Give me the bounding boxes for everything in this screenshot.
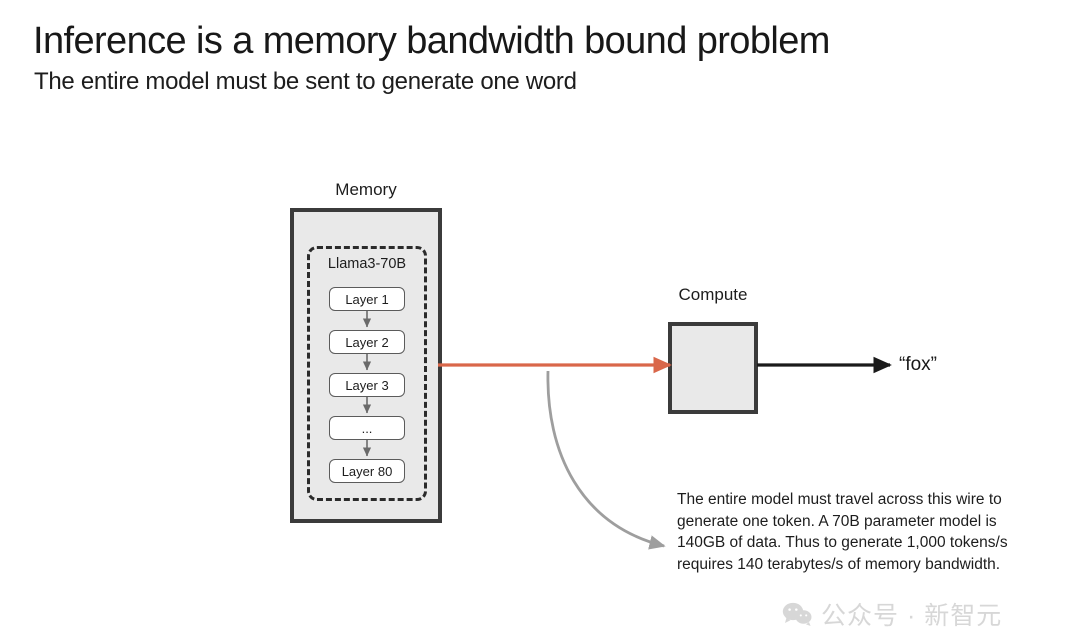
layer-box: Layer 3 bbox=[329, 373, 405, 397]
compute-label: Compute bbox=[660, 285, 766, 305]
memory-label: Memory bbox=[290, 180, 442, 200]
layer-box: Layer 2 bbox=[329, 330, 405, 354]
compute-box bbox=[668, 322, 758, 414]
watermark-text: 公众号 · 新智元 bbox=[821, 596, 1002, 632]
layer-box: Layer 80 bbox=[329, 459, 405, 483]
layer-box: Layer 1 bbox=[329, 287, 405, 311]
callout-caption: The entire model must travel across this… bbox=[677, 489, 1027, 575]
page-subtitle: The entire model must be sent to generat… bbox=[34, 68, 577, 96]
wechat-icon bbox=[782, 602, 812, 626]
watermark: 公众号 · 新智元 bbox=[782, 596, 1002, 632]
model-name-label: Llama3-70B bbox=[307, 256, 427, 272]
output-word-label: “fox” bbox=[899, 354, 937, 376]
callout-curved-arrow bbox=[548, 371, 664, 546]
layer-box: ... bbox=[329, 416, 405, 440]
page-title: Inference is a memory bandwidth bound pr… bbox=[33, 20, 830, 63]
